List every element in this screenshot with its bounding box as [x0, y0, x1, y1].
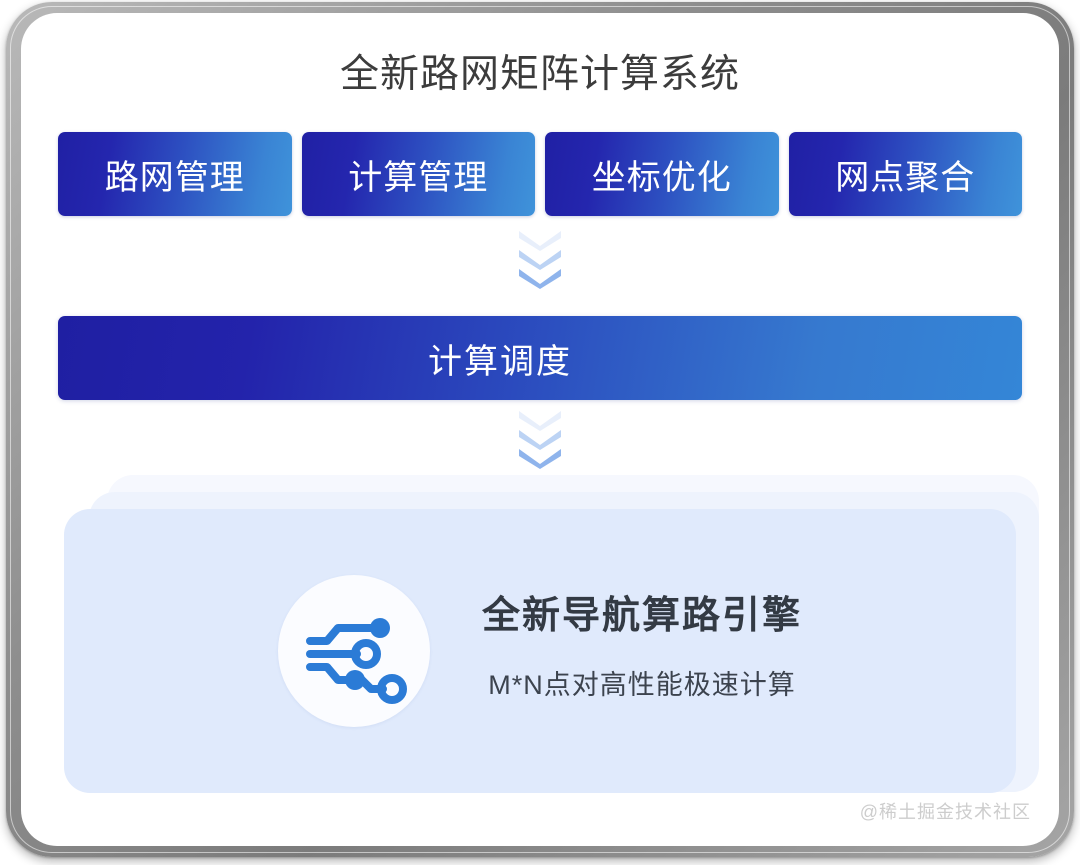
- engine-subtitle: M*N点对高性能极速计算: [488, 668, 796, 702]
- device-frame: 全新路网矩阵计算系统 路网管理 计算管理 坐标优化 网点聚合: [6, 2, 1074, 857]
- watermark: @稀土掘金技术社区: [860, 798, 1031, 824]
- engine-card-content: 全新导航算路引擎 M*N点对高性能极速计算: [64, 509, 1016, 793]
- engine-card[interactable]: 全新导航算路引擎 M*N点对高性能极速计算: [64, 509, 1016, 793]
- engine-text-block: 全新导航算路引擎 M*N点对高性能极速计算: [482, 594, 802, 708]
- circuit-network-icon: [278, 575, 430, 727]
- engine-heading: 全新导航算路引擎: [482, 594, 802, 638]
- screen-surface: 全新路网矩阵计算系统 路网管理 计算管理 坐标优化 网点聚合: [21, 13, 1059, 846]
- engine-card-stack: 全新导航算路引擎 M*N点对高性能极速计算: [21, 13, 1059, 846]
